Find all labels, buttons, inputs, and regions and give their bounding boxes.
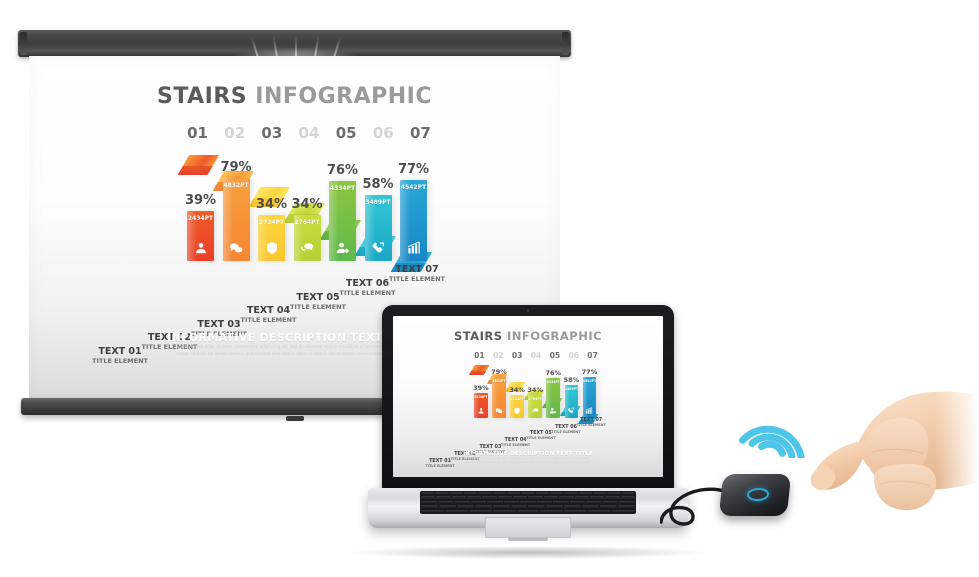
key[interactable] <box>439 505 456 508</box>
key[interactable] <box>438 501 454 504</box>
key[interactable] <box>493 492 506 495</box>
key[interactable] <box>421 501 437 504</box>
key[interactable] <box>570 501 586 504</box>
projector-light-beam <box>185 30 405 57</box>
bar-percent-2: 79% <box>220 160 251 175</box>
bar-percent-1: 39% <box>185 193 216 208</box>
key[interactable] <box>435 492 448 495</box>
projector-screen-handle[interactable] <box>286 416 304 421</box>
bar-percent-6: 58% <box>362 177 393 192</box>
laptop-screen[interactable]: STAIRS INFOGRAPHIC01020304050607 <box>393 316 663 477</box>
key[interactable] <box>520 501 536 504</box>
key[interactable] <box>582 505 599 508</box>
add-user-icon <box>336 241 350 255</box>
stair-label-sub-7: TITLE ELEMENT <box>378 275 456 283</box>
key[interactable] <box>605 496 619 499</box>
key[interactable] <box>559 496 573 499</box>
bar-subvalue-4: 2764PT <box>294 219 319 226</box>
key[interactable] <box>454 501 470 504</box>
add-user-icon <box>550 407 558 415</box>
key[interactable] <box>564 492 577 495</box>
bar-subvalue-6: 3489PT <box>365 199 390 206</box>
key[interactable] <box>421 505 438 508</box>
bar-percent-5: 76% <box>327 163 358 178</box>
bar-chart-icon <box>586 407 594 415</box>
stair-label-7: TEXT 07 TITLE ELEMENT <box>571 418 611 427</box>
key[interactable] <box>528 505 545 508</box>
description-body: Lorem ipsum dolor sit amet, consectetur … <box>464 457 592 464</box>
bar-subvalue-2: 4832PT <box>492 379 505 383</box>
key[interactable] <box>550 492 563 495</box>
stair-label-sub-4: TITLE ELEMENT <box>496 443 536 447</box>
bar-subvalue-5: 4334PT <box>330 185 355 192</box>
projector-screen-top-bar <box>18 30 571 57</box>
bar-percent-3: 34% <box>256 197 287 212</box>
bar-percent-7: 77% <box>582 368 598 376</box>
bar-percent-5: 76% <box>546 369 562 377</box>
user-icon <box>477 407 485 415</box>
tread-top-surface <box>182 155 218 166</box>
hand-pressing-button <box>762 386 979 536</box>
keyboard-row-2[interactable] <box>421 496 635 499</box>
key[interactable] <box>564 510 587 513</box>
keyboard-row-5[interactable] <box>421 510 635 513</box>
stair-label-7: TEXT 07 TITLE ELEMENT <box>378 264 456 283</box>
bar-subvalue-4: 2764PT <box>528 397 541 401</box>
key[interactable] <box>607 492 620 495</box>
bar-chart-icon <box>407 241 421 255</box>
key[interactable] <box>553 501 569 504</box>
stair-bar-7[interactable] <box>400 180 427 261</box>
stair-label-sub-1: TITLE ELEMENT <box>81 357 159 365</box>
key[interactable] <box>498 496 512 499</box>
laptop-lid-notch <box>508 538 548 541</box>
key[interactable] <box>493 505 510 508</box>
phone-icon <box>568 407 576 415</box>
key[interactable] <box>618 505 635 508</box>
key[interactable] <box>469 510 492 513</box>
bar-subvalue-3: 2724PT <box>259 219 284 226</box>
stair-tread-1 <box>472 365 491 371</box>
key[interactable] <box>436 496 450 499</box>
stair-label-sub-7: TITLE ELEMENT <box>571 423 611 427</box>
key[interactable] <box>600 505 617 508</box>
key[interactable] <box>588 510 611 513</box>
phone-icon <box>371 241 385 255</box>
key[interactable] <box>507 492 520 495</box>
bar-subvalue-3: 2724PT <box>510 397 523 401</box>
key[interactable] <box>593 492 606 495</box>
key[interactable] <box>471 501 487 504</box>
key[interactable] <box>621 496 635 499</box>
bar-subvalue-6: 3489PT <box>565 387 578 391</box>
stair-bar-5[interactable] <box>329 181 356 261</box>
laptop-lid: STAIRS INFOGRAPHIC01020304050607 <box>382 305 674 491</box>
bar-percent-4: 34% <box>527 386 543 394</box>
key[interactable] <box>464 492 477 495</box>
key[interactable] <box>504 501 520 504</box>
key[interactable] <box>612 510 635 513</box>
stair-bar-2[interactable] <box>492 377 506 418</box>
phone-chat-icon <box>300 241 314 255</box>
key[interactable] <box>540 510 563 513</box>
stair-bar-5[interactable] <box>546 378 560 418</box>
webcam-icon <box>527 309 530 312</box>
keyboard-row-4[interactable] <box>421 505 635 508</box>
stair-label-sub-1: TITLE ELEMENT <box>420 464 460 468</box>
stair-label-sub-5: TITLE ELEMENT <box>521 436 561 440</box>
key[interactable] <box>579 492 592 495</box>
bar-percent-3: 34% <box>509 386 525 394</box>
keyboard-row-1[interactable] <box>421 492 635 495</box>
key[interactable] <box>536 492 549 495</box>
key[interactable] <box>586 501 602 504</box>
bar-subvalue-1: 2434PT <box>188 215 213 222</box>
bar-percent-7: 77% <box>398 162 429 177</box>
key[interactable] <box>457 505 474 508</box>
key[interactable] <box>478 492 491 495</box>
laptop-trackpad[interactable] <box>485 517 571 538</box>
key[interactable] <box>445 510 468 513</box>
bar-subvalue-2: 4832PT <box>223 182 248 189</box>
stair-bar-7[interactable] <box>583 377 597 418</box>
bar-subvalue-7: 4542PT <box>401 184 426 191</box>
phone-chat-icon <box>531 407 539 415</box>
tread-front-face <box>177 166 212 175</box>
key[interactable] <box>521 492 534 495</box>
tread-front-face <box>469 371 487 376</box>
keyboard-row-3[interactable] <box>421 501 635 504</box>
stair-label-sub-6: TITLE ELEMENT <box>546 430 586 434</box>
stair-bar-2[interactable] <box>223 178 250 261</box>
key[interactable] <box>475 505 492 508</box>
key[interactable] <box>421 510 444 513</box>
scene-root: STAIRS INFOGRAPHIC01020304050607 <box>0 0 979 577</box>
key[interactable] <box>452 496 466 499</box>
chat-bubbles-icon <box>495 407 503 415</box>
key[interactable] <box>590 496 604 499</box>
laptop-keyboard[interactable] <box>420 491 636 514</box>
key[interactable] <box>421 492 434 495</box>
stair-label-sub-6: TITLE ELEMENT <box>329 289 407 297</box>
user-icon <box>194 241 208 255</box>
shield-icon <box>265 241 279 255</box>
key[interactable] <box>511 505 528 508</box>
key[interactable] <box>564 505 581 508</box>
bar-percent-2: 79% <box>491 368 507 376</box>
bar-percent-4: 34% <box>291 197 322 212</box>
laptop-computer: STAIRS INFOGRAPHIC01020304050607 <box>368 305 688 550</box>
key[interactable] <box>546 505 563 508</box>
stair-label-title-7: TEXT 07 <box>378 264 456 275</box>
key[interactable] <box>513 496 527 499</box>
key[interactable] <box>622 492 635 495</box>
shield-icon <box>513 407 521 415</box>
bar-percent-1: 39% <box>473 384 489 392</box>
description-block: INFORMATIVE DESCRIPTION TEXT TITLE Lorem… <box>393 451 663 464</box>
key[interactable] <box>619 501 635 504</box>
key[interactable] <box>603 501 619 504</box>
stair-label-sub-5: TITLE ELEMENT <box>279 303 357 311</box>
key[interactable] <box>450 492 463 495</box>
key[interactable] <box>517 510 540 513</box>
key[interactable] <box>575 496 589 499</box>
key[interactable] <box>493 510 516 513</box>
key[interactable] <box>528 496 542 499</box>
bar-subvalue-7: 4542PT <box>583 379 596 383</box>
stair-label-sub-4: TITLE ELEMENT <box>230 316 308 324</box>
bar-subvalue-1: 2434PT <box>474 395 487 399</box>
key[interactable] <box>421 496 435 499</box>
bar-percent-6: 58% <box>564 376 580 384</box>
infographic-small: STAIRS INFOGRAPHIC01020304050607 <box>393 316 663 477</box>
key[interactable] <box>537 501 553 504</box>
chat-bubbles-icon <box>229 241 243 255</box>
key[interactable] <box>467 496 481 499</box>
key[interactable] <box>482 496 496 499</box>
key[interactable] <box>487 501 503 504</box>
stair-tread-1 <box>182 155 218 166</box>
key[interactable] <box>544 496 558 499</box>
bar-subvalue-5: 4334PT <box>547 380 560 384</box>
